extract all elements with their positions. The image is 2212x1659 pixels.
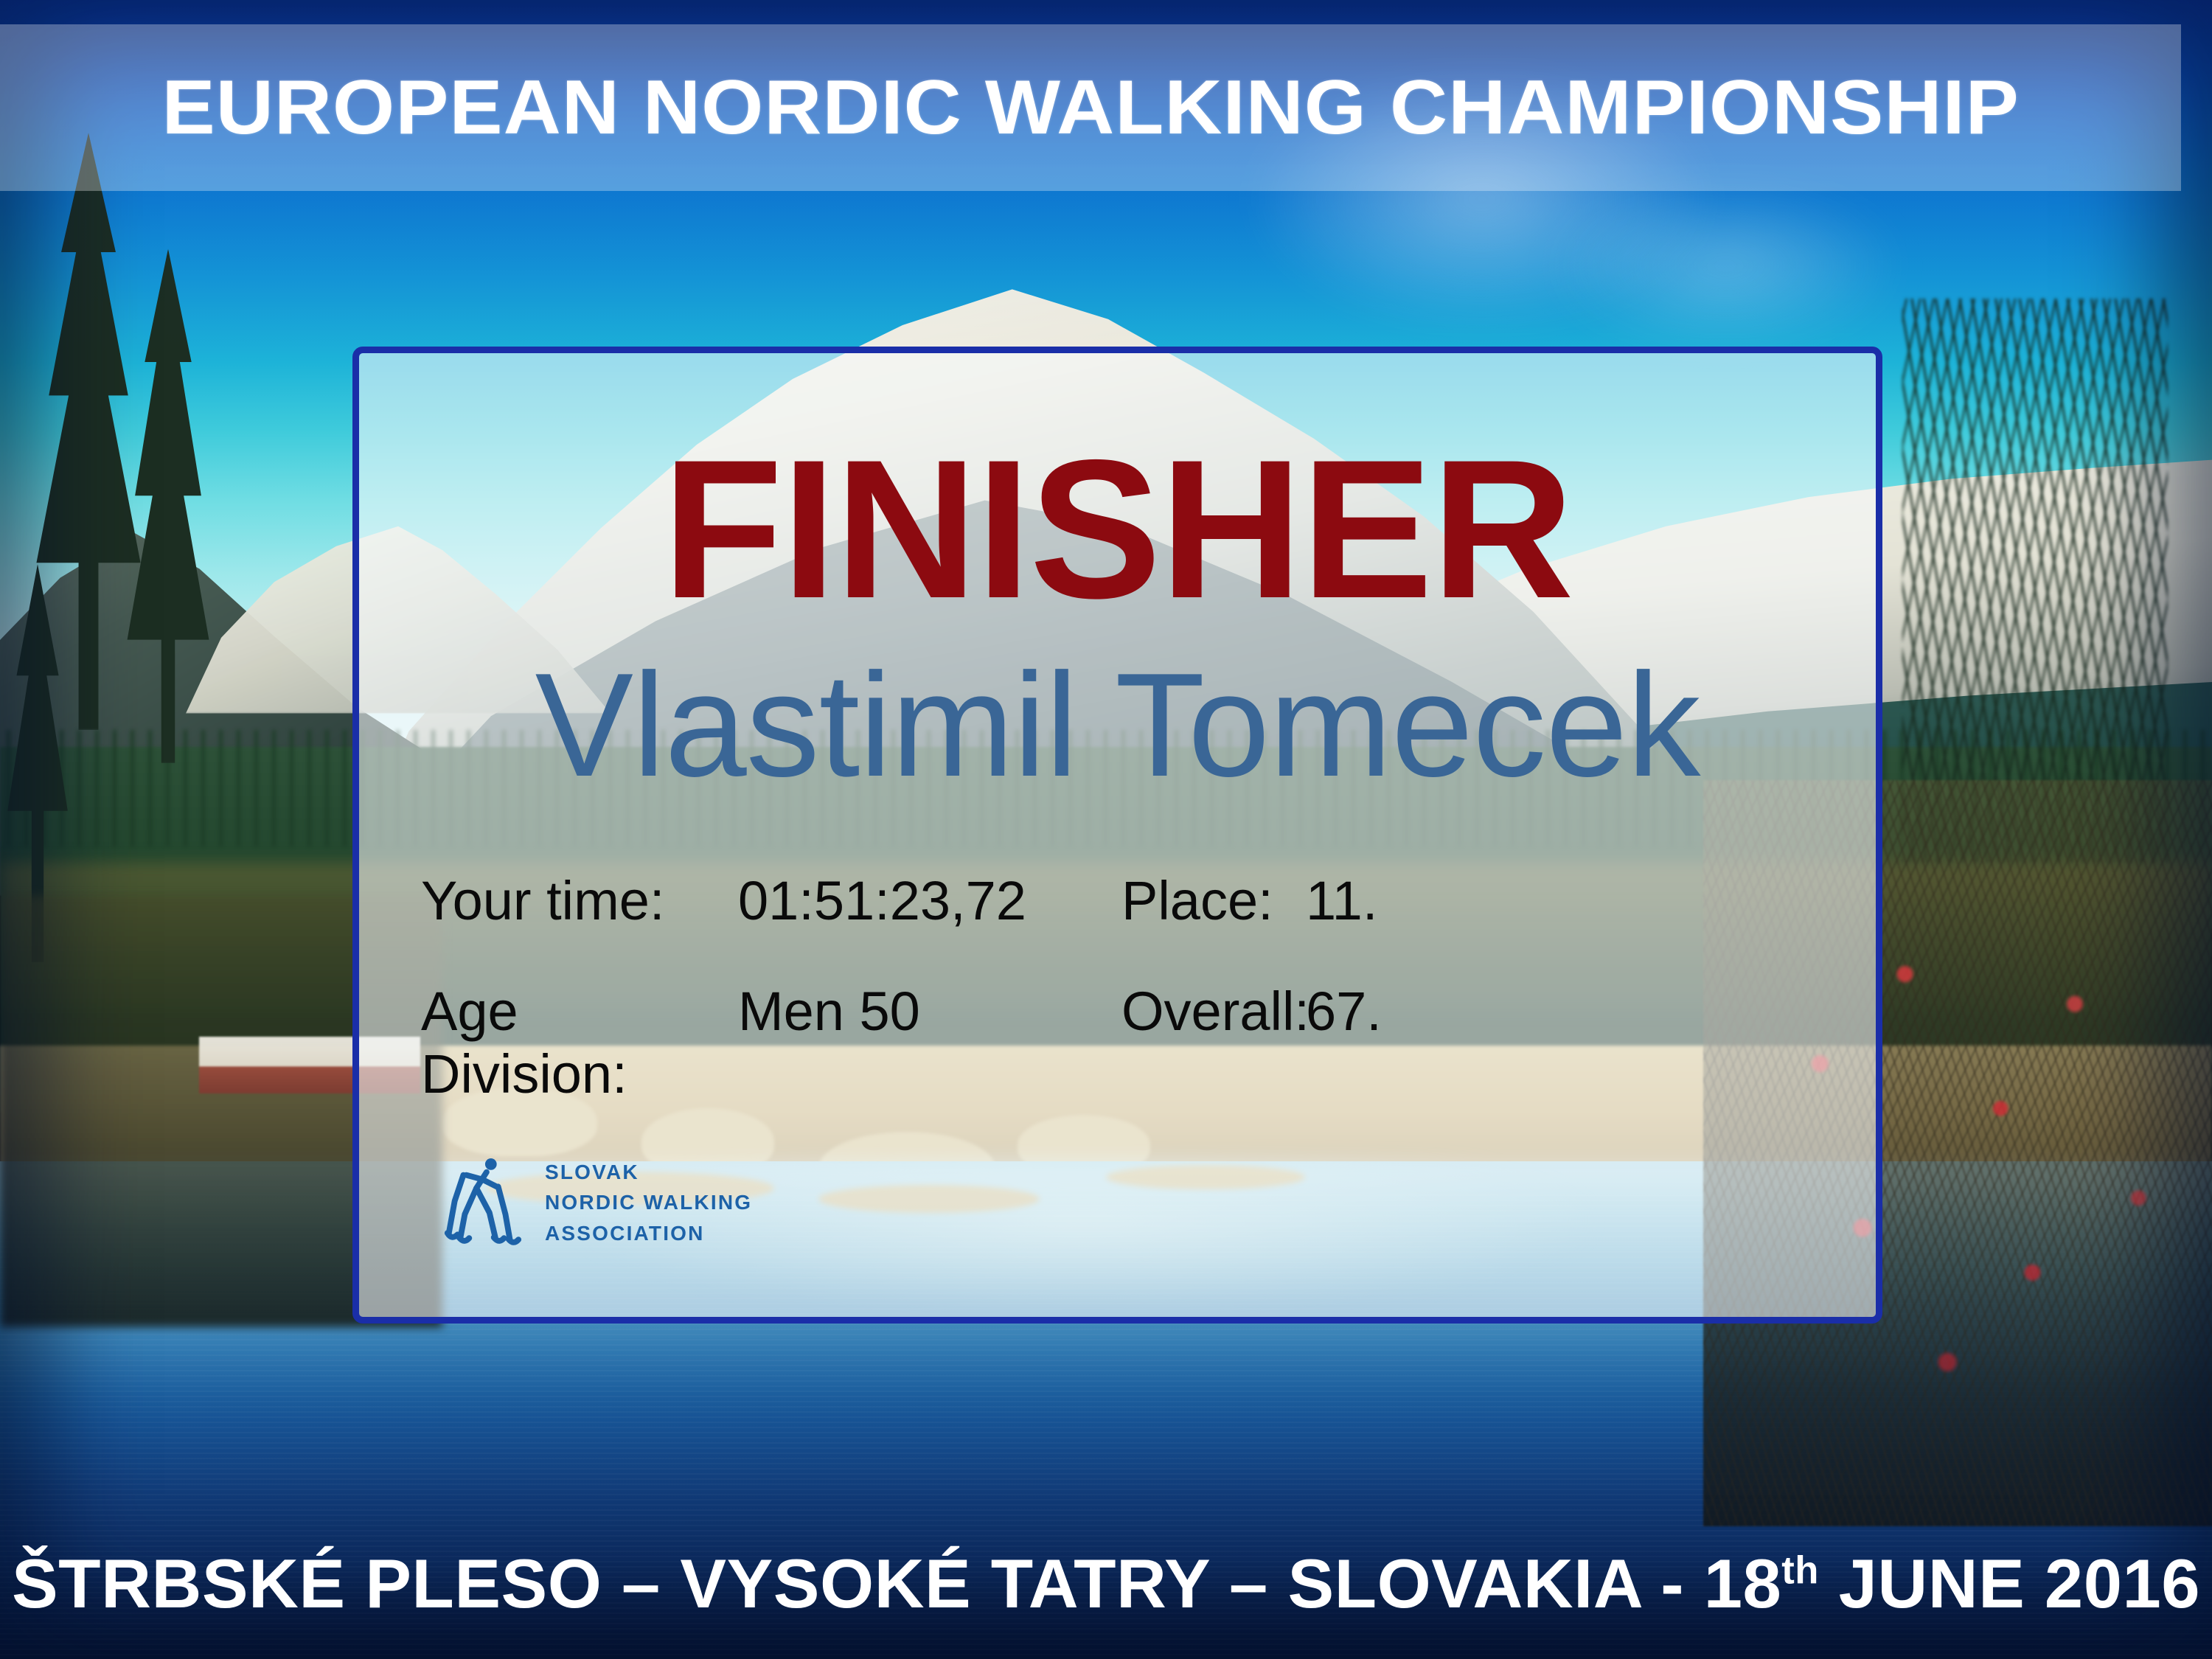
nordic-walker-icon <box>439 1158 526 1248</box>
header-band: EUROPEAN NORDIC WALKING CHAMPIONSHIP <box>0 24 2181 191</box>
certificate-card: FINISHER Vlastimil Tomecek Your time: 01… <box>352 347 1882 1324</box>
logo-line-1: SLOVAK <box>545 1157 752 1187</box>
place-label: Place: <box>1121 869 1306 932</box>
date-text: JUNE 2016 <box>1819 1545 2200 1622</box>
ordinal-suffix: th <box>1781 1549 1819 1593</box>
result-row-time: Your time: 01:51:23,72 Place: 11. <box>421 869 1674 980</box>
overall-label: Overall: <box>1121 980 1306 1043</box>
division-label: Age Division: <box>421 980 738 1105</box>
slovak-nordic-walking-association-logo: SLOVAK NORDIC WALKING ASSOCIATION <box>439 1157 752 1248</box>
logo-line-3: ASSOCIATION <box>545 1218 752 1248</box>
athlete-name: Vlastimil Tomecek <box>359 652 1876 799</box>
finisher-certificate-image: EUROPEAN NORDIC WALKING CHAMPIONSHIP FIN… <box>0 0 2212 1659</box>
result-row-division: Age Division: Men 50 Overall: 67. <box>421 980 1674 1091</box>
logo-wordmark: SLOVAK NORDIC WALKING ASSOCIATION <box>545 1157 752 1248</box>
venue-text: ŠTRBSKÉ PLESO – VYSOKÉ TATRY – SLOVAKIA … <box>12 1545 1781 1622</box>
footer: ŠTRBSKÉ PLESO – VYSOKÉ TATRY – SLOVAKIA … <box>0 1544 2212 1624</box>
division-value: Men 50 <box>738 980 1121 1043</box>
time-value: 01:51:23,72 <box>738 869 1121 932</box>
logo-line-2: NORDIC WALKING <box>545 1187 752 1217</box>
overall-value: 67. <box>1306 980 1382 1043</box>
event-title: EUROPEAN NORDIC WALKING CHAMPIONSHIP <box>161 64 2019 152</box>
place-value: 11. <box>1306 869 1377 932</box>
result-fields: Your time: 01:51:23,72 Place: 11. Age Di… <box>421 869 1674 1091</box>
time-label: Your time: <box>421 869 738 932</box>
finisher-heading: FINISHER <box>359 430 1876 627</box>
venue-date-line: ŠTRBSKÉ PLESO – VYSOKÉ TATRY – SLOVAKIA … <box>0 1544 2212 1624</box>
